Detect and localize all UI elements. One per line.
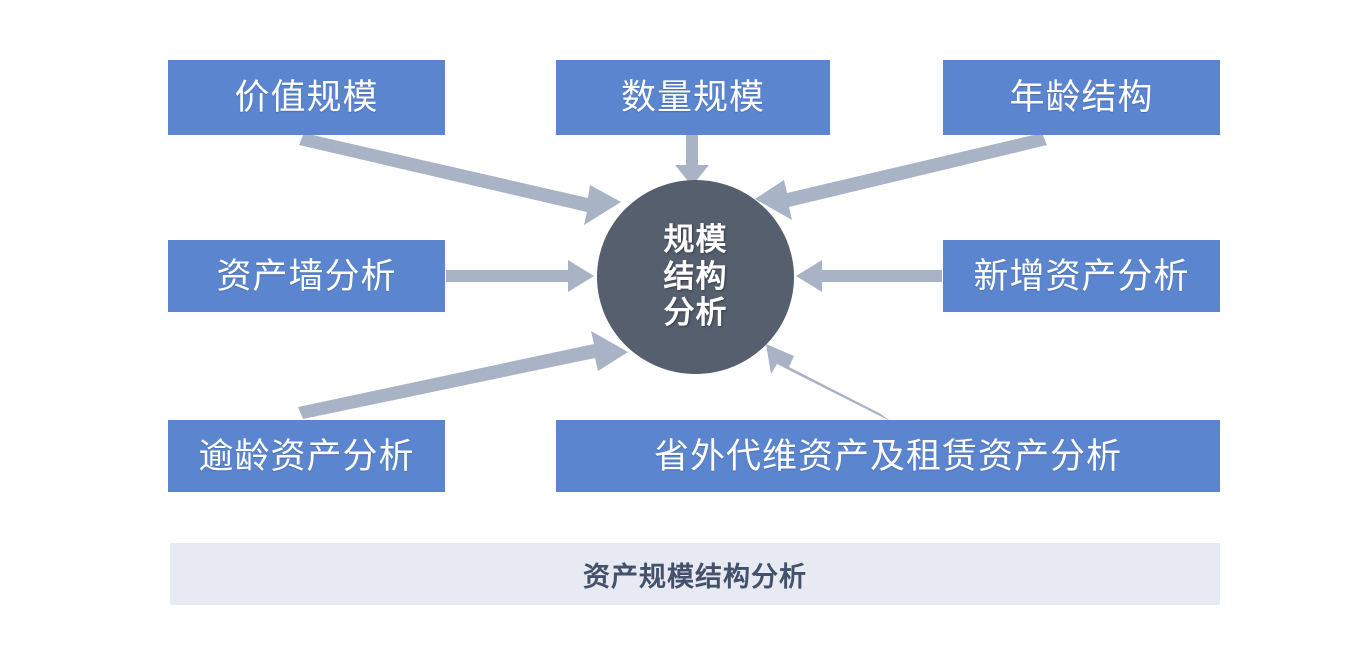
node-overage-asset-analysis[interactable]: 逾龄资产分析 [168,420,445,492]
node-label-age-structure: 年龄结构 [1009,80,1153,115]
node-label-quantity-scale: 数量规模 [621,80,765,115]
hub-line-3: 分析 [664,295,728,332]
arrow-asset-wall-to-hub [446,260,594,292]
arrow-outsourced-asset-to-hub [766,344,890,421]
node-outsourced-leased-asset-analysis[interactable]: 省外代维资产及租赁资产分析 [556,420,1220,492]
hub-line-1: 规模 [664,222,728,259]
arrow-overage-asset-to-hub [298,331,628,419]
node-value-scale[interactable]: 价值规模 [168,60,445,135]
hub-circle[interactable]: 规模 结构 分析 [597,180,794,374]
node-quantity-scale[interactable]: 数量规模 [556,60,830,135]
node-age-structure[interactable]: 年龄结构 [943,60,1220,135]
node-label-asset-wall-analysis: 资产墙分析 [216,259,396,294]
hub-line-2: 结构 [664,259,728,296]
caption-text: 资产规模结构分析 [583,555,807,594]
arrow-value-scale-to-hub [299,133,621,225]
node-label-new-asset-analysis: 新增资产分析 [973,259,1189,294]
node-asset-wall-analysis[interactable]: 资产墙分析 [168,240,445,312]
arrow-age-structure-to-hub [755,133,1047,220]
node-label-value-scale: 价值规模 [234,80,378,115]
node-label-outsourced-leased-asset-analysis: 省外代维资产及租赁资产分析 [654,439,1122,474]
node-label-overage-asset-analysis: 逾龄资产分析 [198,439,414,474]
caption-bar: 资产规模结构分析 [170,543,1220,605]
node-new-asset-analysis[interactable]: 新增资产分析 [943,240,1220,312]
arrow-quantity-scale-to-hub [675,135,709,186]
diagram-canvas: 价值规模 数量规模 年龄结构 资产墙分析 新增资产分析 逾龄资产分析 省外代维资… [0,0,1372,651]
arrow-new-asset-to-hub [796,260,942,292]
